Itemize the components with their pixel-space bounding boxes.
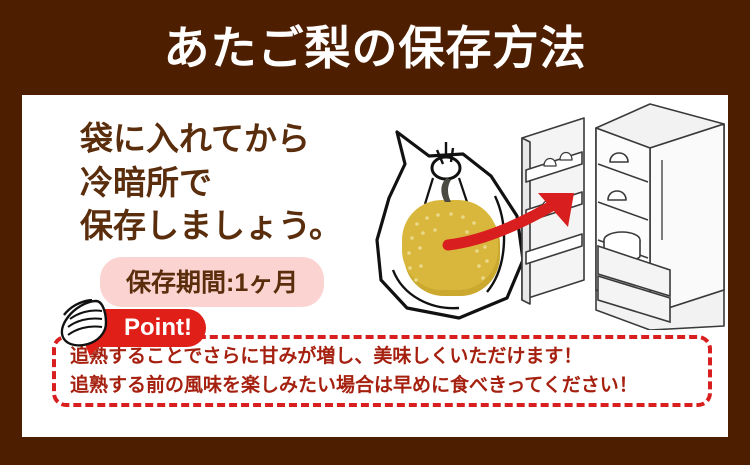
pointing-hand-icon xyxy=(56,299,112,351)
instruction-line-2: 冷暗所で xyxy=(80,161,342,205)
door-bottle-1 xyxy=(544,159,556,167)
interior-item-1 xyxy=(610,153,628,162)
door-bottle-2 xyxy=(560,153,572,161)
instruction-line-1: 袋に入れてから xyxy=(80,117,342,161)
title-bar: あたご梨の保存方法 xyxy=(0,0,750,95)
arrow-shaft xyxy=(448,201,560,245)
hand-palm xyxy=(62,301,106,345)
point-label: Point! xyxy=(124,316,192,340)
storage-period-badge: 保存期間:1ヶ月 xyxy=(100,257,324,307)
infographic-root: あたご梨の保存方法 袋に入れてから 冷暗所で 保存しましょう。 保存期間:1ヶ月 xyxy=(0,0,750,465)
interior-item-2 xyxy=(608,191,626,200)
point-badge: Point! xyxy=(56,309,216,351)
red-arrow-icon xyxy=(442,183,607,253)
point-text: 追熟することでさらに甘みが増し、美味しくいただけます！ 追熟する前の風味を楽しみ… xyxy=(70,343,718,400)
instruction-text: 袋に入れてから 冷暗所で 保存しましょう。 xyxy=(80,117,342,248)
instruction-line-3: 保存しましょう。 xyxy=(80,204,342,248)
point-line-2: 追熟する前の風味を楽しみたい場合は早めに食べきってください！ xyxy=(70,372,718,401)
content-card: 袋に入れてから 冷暗所で 保存しましょう。 保存期間:1ヶ月 xyxy=(22,95,728,437)
page-title: あたご梨の保存方法 xyxy=(164,25,587,71)
bag-knot xyxy=(432,157,460,179)
